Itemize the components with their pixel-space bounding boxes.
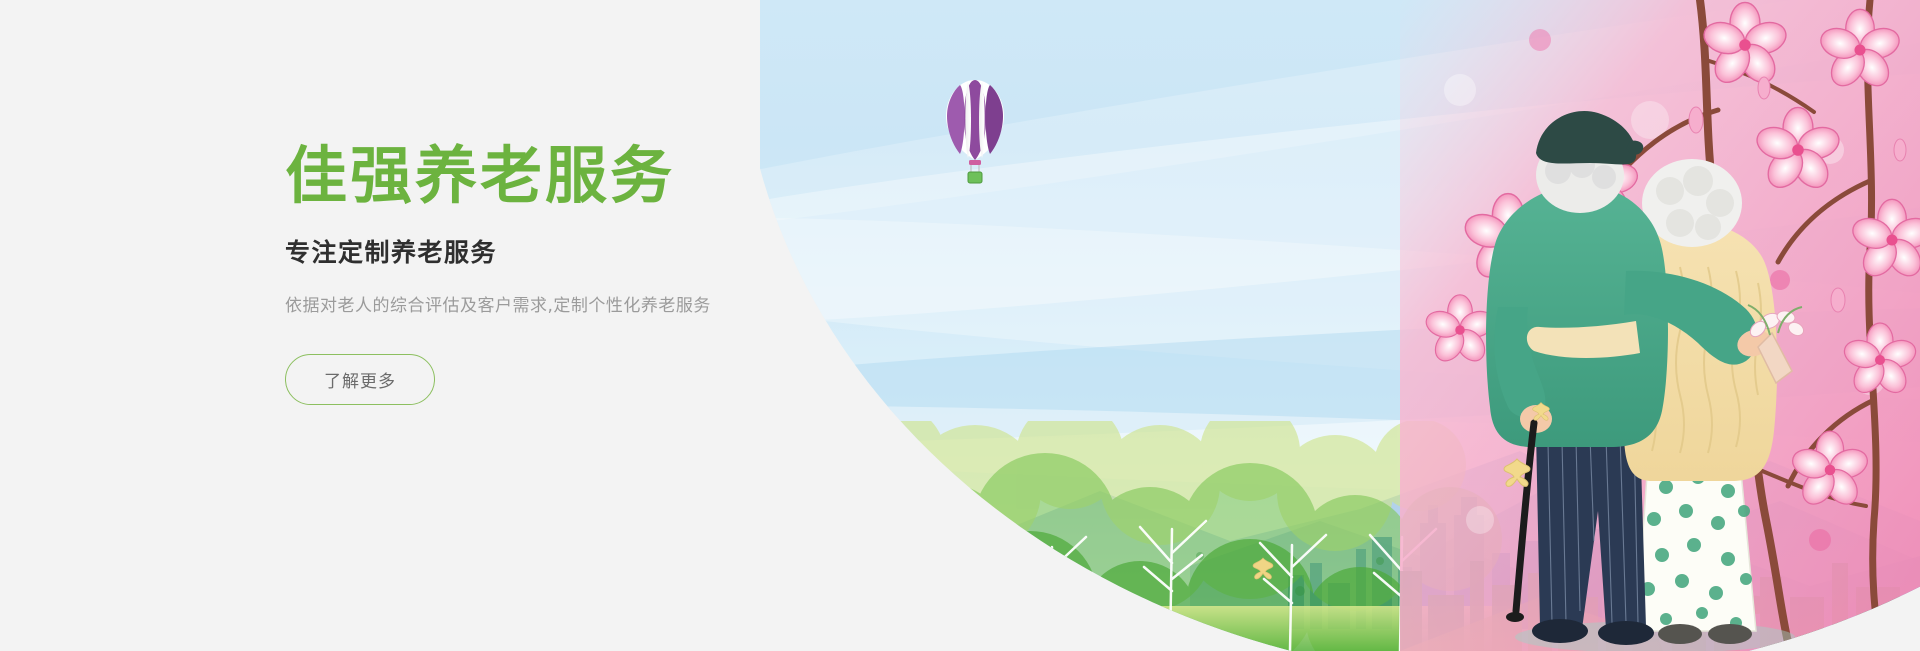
ginkgo-leaf-icon (1250, 555, 1276, 581)
elderly-couple-illustration (1440, 71, 1860, 651)
hero-description: 依据对老人的综合评估及客户需求,定制个性化养老服务 (285, 291, 925, 316)
ginkgo-leaf-icon (1530, 400, 1552, 422)
hot-air-balloon-icon (940, 78, 1010, 188)
hero-banner: 佳强养老服务 专注定制养老服务 依据对老人的综合评估及客户需求,定制个性化养老服… (0, 0, 1920, 651)
ginkgo-leaf-icon (1500, 455, 1534, 489)
hero-text-block: 佳强养老服务 专注定制养老服务 依据对老人的综合评估及客户需求,定制个性化养老服… (285, 140, 925, 405)
hero-subtitle: 专注定制养老服务 (285, 233, 925, 269)
page-title: 佳强养老服务 (285, 140, 925, 211)
hero-illustration (760, 0, 1920, 651)
learn-more-button[interactable]: 了解更多 (285, 354, 435, 405)
